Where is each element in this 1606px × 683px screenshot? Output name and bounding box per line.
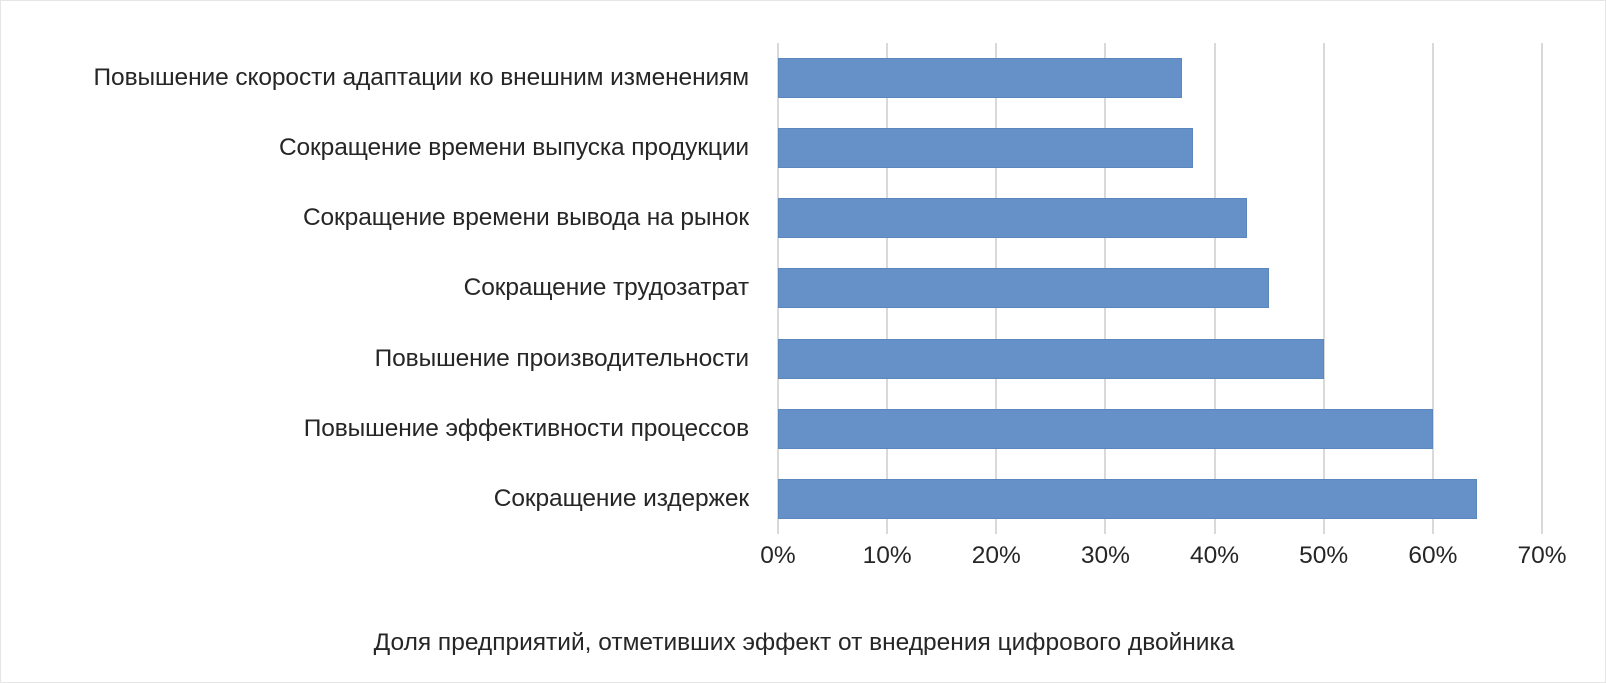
bar[interactable] (778, 128, 1193, 168)
category-label-row: Повышение производительности (11, 324, 763, 394)
category-label: Сокращение времени вывода на рынок (303, 204, 763, 232)
category-label-row: Сокращение трудозатрат (11, 253, 763, 323)
bar-row (778, 394, 1542, 464)
bar[interactable] (778, 268, 1269, 308)
x-axis-tick-label: 70% (1517, 542, 1566, 570)
category-label-row: Повышение скорости адаптации ко внешним … (11, 43, 763, 113)
x-axis-tick-label: 0% (760, 542, 795, 570)
bar[interactable] (778, 339, 1324, 379)
bar-row (778, 324, 1542, 394)
plot-area (778, 43, 1542, 534)
bar-row (778, 43, 1542, 113)
bar-row (778, 113, 1542, 183)
category-label: Сокращение издержек (494, 485, 763, 513)
plot-wrapper: Повышение скорости адаптации ко внешним … (1, 1, 1606, 683)
x-axis-tick-label: 10% (863, 542, 912, 570)
category-label-row: Сокращение издержек (11, 464, 763, 534)
bar[interactable] (778, 479, 1477, 519)
category-axis-labels: Повышение скорости адаптации ко внешним … (11, 43, 763, 534)
bar-series (778, 43, 1542, 534)
x-axis-tick-label: 40% (1190, 542, 1239, 570)
category-label-row: Сокращение времени вывода на рынок (11, 183, 763, 253)
category-label: Сокращение трудозатрат (464, 274, 763, 302)
category-label: Сокращение времени выпуска продукции (279, 134, 763, 162)
x-axis-tick-label: 50% (1299, 542, 1348, 570)
bar-chart-figure: Повышение скорости адаптации ко внешним … (0, 0, 1606, 683)
bar-row (778, 253, 1542, 323)
x-axis-tick-labels: 0%10%20%30%40%50%60%70% (778, 542, 1542, 580)
bar-row (778, 464, 1542, 534)
x-axis-tick-label: 60% (1408, 542, 1457, 570)
bar[interactable] (778, 58, 1182, 98)
x-axis-tick-label: 30% (1081, 542, 1130, 570)
category-label: Повышение производительности (375, 345, 763, 373)
category-label-row: Повышение эффективности процессов (11, 394, 763, 464)
x-axis-title: Доля предприятий, отметивших эффект от в… (1, 629, 1606, 657)
bar[interactable] (778, 198, 1247, 238)
x-axis-tick-label: 20% (972, 542, 1021, 570)
category-label-row: Сокращение времени выпуска продукции (11, 113, 763, 183)
bar[interactable] (778, 409, 1433, 449)
category-label: Повышение эффективности процессов (304, 415, 763, 443)
bar-row (778, 183, 1542, 253)
category-label: Повышение скорости адаптации ко внешним … (94, 64, 763, 92)
